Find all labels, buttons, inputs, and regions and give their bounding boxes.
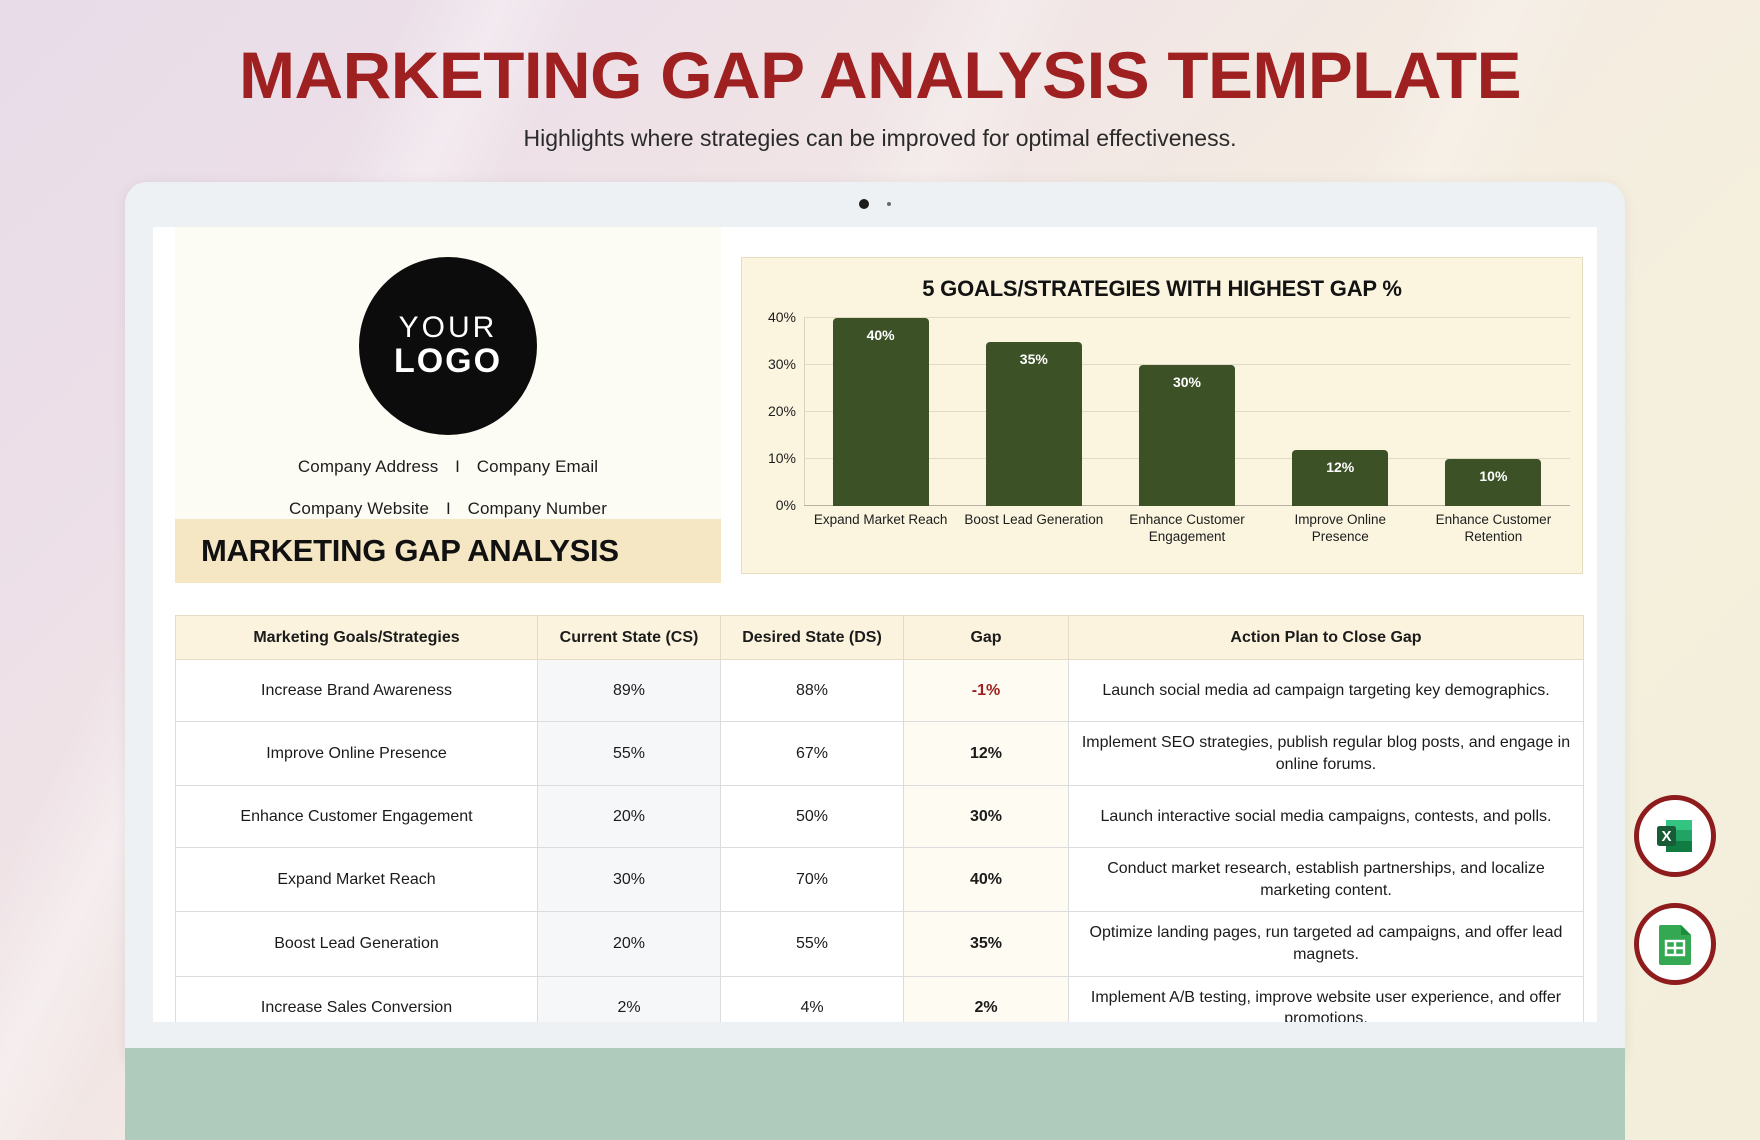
chart-y-tick-label: 10%: [768, 450, 796, 466]
column-header-desired[interactable]: Desired State (DS): [721, 616, 904, 660]
chart-bar-value-label: 12%: [1326, 459, 1354, 475]
column-header-goal[interactable]: Marketing Goals/Strategies: [176, 616, 538, 660]
google-sheets-icon[interactable]: [1634, 903, 1716, 985]
chart-y-tick-label: 0%: [776, 497, 796, 513]
cell-desired-state[interactable]: 50%: [721, 786, 904, 848]
company-email-text: Company Email: [477, 457, 598, 476]
sheets-glyph-icon: [1653, 921, 1697, 967]
column-header-gap[interactable]: Gap: [904, 616, 1069, 660]
cell-gap[interactable]: 30%: [904, 786, 1069, 848]
contact-separator-icon: I: [446, 499, 451, 518]
cell-current-state[interactable]: 89%: [538, 660, 721, 722]
cell-gap[interactable]: 35%: [904, 912, 1069, 976]
chart-bar-slot: 30%: [1110, 318, 1263, 506]
chart-bar-slot: 40%: [804, 318, 957, 506]
svg-text:X: X: [1661, 828, 1671, 845]
chart-bar[interactable]: 10%: [1445, 459, 1541, 506]
chart-bar[interactable]: 30%: [1139, 365, 1235, 506]
cell-current-state[interactable]: 30%: [538, 848, 721, 912]
camera-indicator-icon: [887, 202, 891, 206]
chart-y-tick-label: 40%: [768, 309, 796, 325]
cell-desired-state[interactable]: 70%: [721, 848, 904, 912]
cell-current-state[interactable]: 55%: [538, 722, 721, 786]
chart-bar[interactable]: 12%: [1292, 450, 1388, 506]
chart-body: 0%10%20%30%40% 40%35%30%12%10% Expand Ma…: [742, 310, 1584, 568]
cell-desired-state[interactable]: 88%: [721, 660, 904, 722]
company-website-text: Company Website: [289, 499, 429, 518]
page-title: MARKETING GAP ANALYSIS TEMPLATE: [0, 42, 1760, 109]
cell-action-plan[interactable]: Implement SEO strategies, publish regula…: [1069, 722, 1584, 786]
table-header: Marketing Goals/Strategies Current State…: [176, 616, 1584, 660]
file-format-icons: X: [1634, 795, 1716, 985]
document-title-banner: MARKETING GAP ANALYSIS: [175, 519, 721, 583]
cell-action-plan[interactable]: Launch interactive social media campaign…: [1069, 786, 1584, 848]
cell-current-state[interactable]: 20%: [538, 912, 721, 976]
cell-action-plan[interactable]: Implement A/B testing, improve website u…: [1069, 976, 1584, 1022]
chart-x-label: Improve Online Presence: [1264, 512, 1417, 546]
column-header-current[interactable]: Current State (CS): [538, 616, 721, 660]
chart-bar[interactable]: 40%: [833, 318, 929, 506]
cell-action-plan[interactable]: Conduct market research, establish partn…: [1069, 848, 1584, 912]
chart-bar-value-label: 35%: [1020, 351, 1048, 367]
chart-title: 5 GOALS/STRATEGIES WITH HIGHEST GAP %: [742, 276, 1582, 302]
cell-gap[interactable]: 12%: [904, 722, 1069, 786]
company-identity-panel: YOUR LOGO Company Address I Company Emai…: [175, 227, 721, 519]
chart-y-tick-label: 30%: [768, 356, 796, 372]
company-contact-line-1: Company Address I Company Email: [298, 457, 598, 477]
laptop-base: [125, 1048, 1625, 1140]
chart-bar[interactable]: 35%: [986, 342, 1082, 507]
table-header-row: Marketing Goals/Strategies Current State…: [176, 616, 1584, 660]
table-row[interactable]: Increase Sales Conversion2%4%2%Implement…: [176, 976, 1584, 1022]
cell-gap[interactable]: 40%: [904, 848, 1069, 912]
cell-goal[interactable]: Boost Lead Generation: [176, 912, 538, 976]
cell-gap[interactable]: 2%: [904, 976, 1069, 1022]
chart-bar-value-label: 10%: [1479, 468, 1507, 484]
gap-analysis-table: Marketing Goals/Strategies Current State…: [175, 615, 1584, 1022]
contact-separator-icon: I: [455, 457, 460, 476]
chart-x-label: Expand Market Reach: [804, 512, 957, 546]
chart-x-tick-labels: Expand Market ReachBoost Lead Generation…: [804, 512, 1570, 546]
cell-goal[interactable]: Improve Online Presence: [176, 722, 538, 786]
chart-bar-slot: 10%: [1417, 318, 1570, 506]
logo-logo-text: LOGO: [394, 343, 502, 380]
chart-bar-slot: 12%: [1264, 318, 1417, 506]
cell-desired-state[interactable]: 4%: [721, 976, 904, 1022]
company-number-text: Company Number: [468, 499, 607, 518]
chart-x-label: Enhance Customer Engagement: [1110, 512, 1263, 546]
logo-your-text: YOUR: [399, 312, 498, 344]
gap-chart-card: 5 GOALS/STRATEGIES WITH HIGHEST GAP % 0%…: [741, 257, 1583, 574]
cell-desired-state[interactable]: 55%: [721, 912, 904, 976]
table-body: Increase Brand Awareness89%88%-1%Launch …: [176, 660, 1584, 1023]
document-canvas: YOUR LOGO Company Address I Company Emai…: [153, 227, 1597, 1022]
chart-bars: 40%35%30%12%10%: [804, 318, 1570, 506]
chart-bar-value-label: 40%: [867, 327, 895, 343]
laptop-mockup: YOUR LOGO Company Address I Company Emai…: [125, 182, 1625, 1060]
table-row[interactable]: Expand Market Reach30%70%40%Conduct mark…: [176, 848, 1584, 912]
excel-glyph-icon: X: [1652, 813, 1698, 859]
table-row[interactable]: Increase Brand Awareness89%88%-1%Launch …: [176, 660, 1584, 722]
table-row[interactable]: Improve Online Presence55%67%12%Implemen…: [176, 722, 1584, 786]
page-header: MARKETING GAP ANALYSIS TEMPLATE Highligh…: [0, 0, 1760, 152]
chart-bar-value-label: 30%: [1173, 374, 1201, 390]
cell-current-state[interactable]: 20%: [538, 786, 721, 848]
chart-x-label: Boost Lead Generation: [957, 512, 1110, 546]
chart-x-label: Enhance Customer Retention: [1417, 512, 1570, 546]
company-address-text: Company Address: [298, 457, 438, 476]
table-row[interactable]: Boost Lead Generation20%55%35%Optimize l…: [176, 912, 1584, 976]
cell-current-state[interactable]: 2%: [538, 976, 721, 1022]
chart-plot-area: 0%10%20%30%40% 40%35%30%12%10%: [804, 318, 1570, 506]
excel-icon[interactable]: X: [1634, 795, 1716, 877]
company-logo-placeholder[interactable]: YOUR LOGO: [359, 257, 537, 435]
column-header-plan[interactable]: Action Plan to Close Gap: [1069, 616, 1584, 660]
camera-lens-icon: [859, 199, 869, 209]
document-title: MARKETING GAP ANALYSIS: [201, 533, 619, 569]
laptop-camera-area: [125, 196, 1625, 212]
page-subtitle: Highlights where strategies can be impro…: [0, 125, 1760, 152]
cell-goal[interactable]: Increase Sales Conversion: [176, 976, 538, 1022]
cell-action-plan[interactable]: Optimize landing pages, run targeted ad …: [1069, 912, 1584, 976]
cell-goal[interactable]: Expand Market Reach: [176, 848, 538, 912]
cell-desired-state[interactable]: 67%: [721, 722, 904, 786]
chart-bar-slot: 35%: [957, 318, 1110, 506]
chart-y-tick-label: 20%: [768, 403, 796, 419]
laptop-screen: YOUR LOGO Company Address I Company Emai…: [153, 227, 1597, 1022]
company-contact-line-2: Company Website I Company Number: [289, 499, 607, 519]
cell-goal[interactable]: Enhance Customer Engagement: [176, 786, 538, 848]
table-row[interactable]: Enhance Customer Engagement20%50%30%Laun…: [176, 786, 1584, 848]
cell-action-plan[interactable]: Launch social media ad campaign targetin…: [1069, 660, 1584, 722]
cell-goal[interactable]: Increase Brand Awareness: [176, 660, 538, 722]
cell-gap[interactable]: -1%: [904, 660, 1069, 722]
